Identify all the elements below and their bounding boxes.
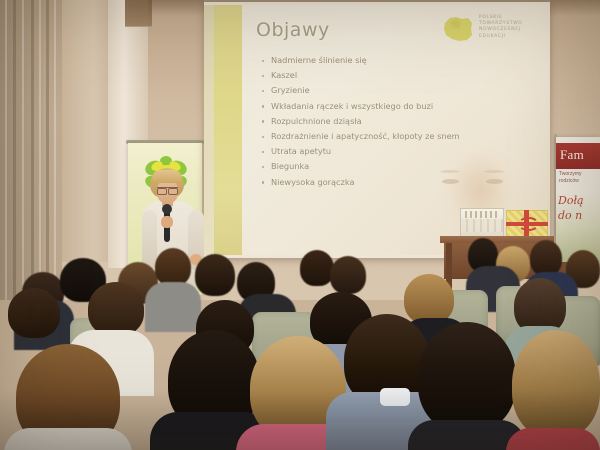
blind-slat <box>54 0 56 300</box>
organization-name: POLSKIE TOWARZYSTWO NOWOCZESNEJ EDUKACJI <box>479 15 537 40</box>
window-blinds <box>0 0 62 300</box>
slide-title: Objawy <box>256 19 330 41</box>
blind-slat <box>13 0 16 300</box>
organization-logo: POLSKIE TOWARZYSTWO NOWOCZESNEJ EDUKACJI <box>441 12 536 48</box>
slide-bullet: Rozpulchnione dziąsła <box>260 114 540 129</box>
audience-head <box>300 250 334 286</box>
audience-head <box>88 282 144 336</box>
poland-map-icon <box>441 14 475 44</box>
slide-bullet: Gryzienie <box>260 83 540 98</box>
product-box-top <box>465 211 499 218</box>
shirt-collar <box>380 388 410 406</box>
slide-bullet: Wkładania rączek i wszystkiego do buzi <box>260 99 540 114</box>
presenter-hand-left <box>161 216 173 228</box>
audience-torso <box>506 428 600 450</box>
red-banner-header: Fam <box>556 143 600 169</box>
slide-bullet: Utrata apetytu <box>260 144 540 159</box>
slide-bullet: Niewysoka gorączka <box>260 175 540 190</box>
slide-bullet: Rozdrażnienie i apatyczność, kłopoty ze … <box>260 129 540 144</box>
blind-slat <box>31 0 34 300</box>
blind-slat <box>5 0 7 300</box>
red-banner-script: Dołą do n <box>558 193 600 223</box>
audience-head <box>404 274 454 324</box>
blind-slat <box>46 0 49 300</box>
audience-head <box>512 330 600 438</box>
red-banner-headline: Fam <box>560 147 584 163</box>
red-banner-subline: Tworzymy rodziców <box>559 171 599 185</box>
audience-head <box>418 322 516 432</box>
slide-bullet: Nadmierne ślinienie się <box>260 53 540 68</box>
glasses-icon <box>157 187 178 193</box>
conference-photo: TO Objawy POLSKIE TOWARZYSTWO NOWOCZESNE… <box>0 0 600 450</box>
ceiling-vent <box>125 0 152 27</box>
audience-head <box>155 248 191 286</box>
presenter-fringe <box>152 170 182 183</box>
org-line-4: EDUKACJI <box>479 34 537 40</box>
wall-panel <box>62 0 114 262</box>
microphone-head <box>162 204 172 214</box>
audience-torso <box>4 428 132 450</box>
slide-bullet-list: Nadmierne ślinienie się Kaszel Gryzienie… <box>260 53 540 190</box>
ribbon-bow <box>518 217 539 231</box>
blind-slat <box>22 0 24 300</box>
audience-head <box>330 256 366 294</box>
slide-bullet: Biegunka <box>260 159 540 174</box>
audience-head <box>8 288 60 338</box>
red-banner-script-line-1: Dołą <box>558 193 600 208</box>
slide-accent-stripe <box>214 5 242 255</box>
slide-bullet: Kaszel <box>260 68 540 83</box>
audience-head <box>195 254 235 296</box>
blind-slat <box>39 0 41 300</box>
product-box-label <box>461 219 503 232</box>
red-rollup-banner: Fam Tworzymy rodziców Dołą do n <box>556 137 600 262</box>
audience-torso <box>145 282 201 332</box>
audience-head <box>530 240 562 276</box>
red-banner-script-line-2: do n <box>558 208 600 223</box>
